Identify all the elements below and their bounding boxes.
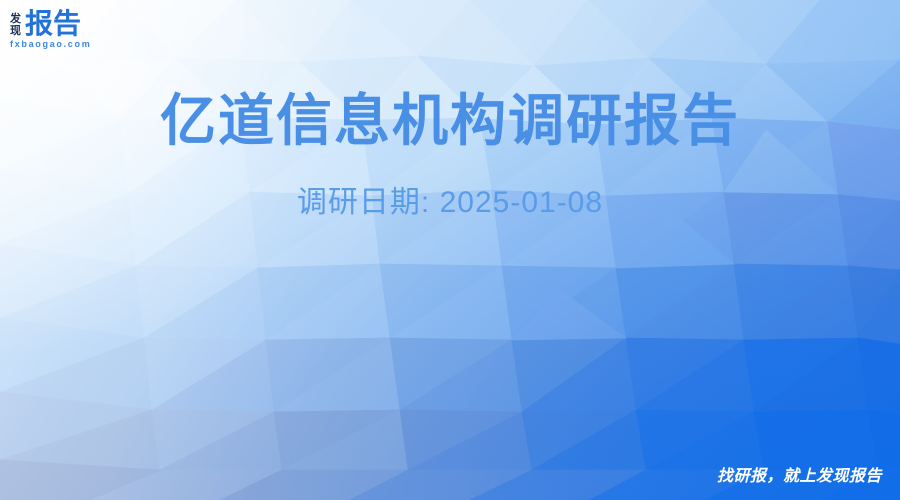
logo-mark-stack: 发 现	[10, 13, 21, 38]
logo-wordmark: 报告	[25, 10, 81, 38]
site-logo[interactable]: 发 现 报告 fxbaogao.com	[10, 8, 120, 54]
report-cover: 发 现 报告 fxbaogao.com 亿道信息机构调研报告 调研日期: 202…	[0, 0, 900, 500]
footer-tagline: 找研报，就上发现报告	[717, 466, 882, 488]
logo-mark-bottom: 现	[10, 25, 21, 37]
polygon-background	[0, 0, 900, 500]
logo-wordmark-row: 发 现 报告	[10, 8, 120, 38]
logo-mark-top: 发	[10, 13, 21, 25]
logo-url: fxbaogao.com	[10, 39, 120, 50]
